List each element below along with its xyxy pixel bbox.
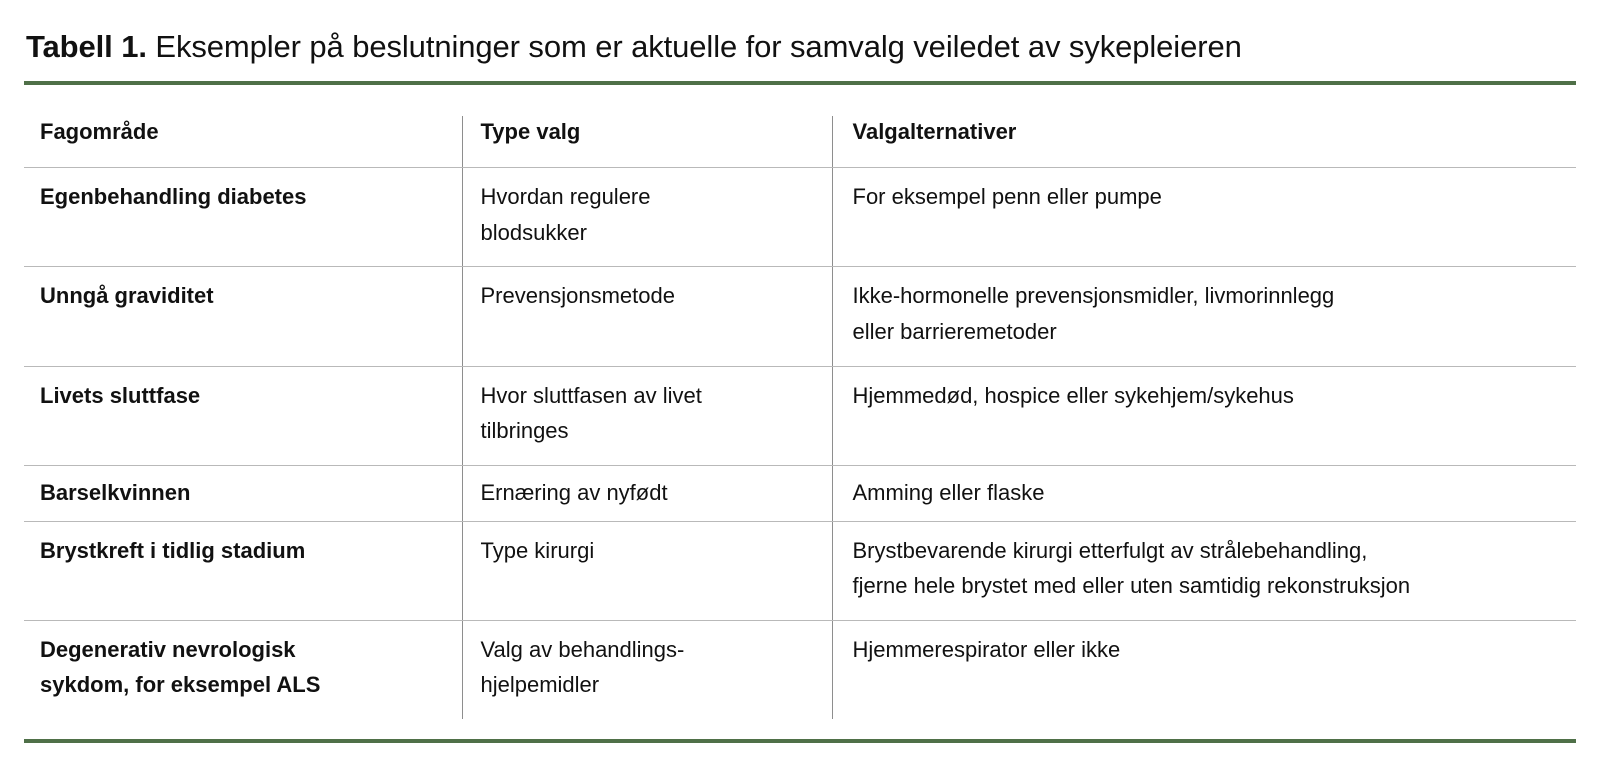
cell-line-1: Brystbevarende kirurgi etterfulgt av str…: [853, 533, 1567, 569]
cell-type-valg: Ernæring av nyfødt: [462, 465, 832, 521]
table-row: Livets sluttfase Hvor sluttfasen av live…: [24, 366, 1576, 465]
cell-line-2: hjelpemidler: [481, 667, 818, 703]
column-header-fagomrade: Fagområde: [24, 116, 462, 168]
table-caption: Tabell 1. Eksempler på beslutninger som …: [24, 0, 1576, 65]
cell-line-1: Prevensjonsmetode: [481, 278, 818, 314]
cell-line-1: For eksempel penn eller pumpe: [853, 179, 1567, 215]
cell-line-2: blodsukker: [481, 215, 818, 251]
cell-line-2: tilbringes: [481, 413, 818, 449]
cell-line-1: Amming eller flaske: [853, 475, 1567, 511]
cell-fagomrade: Unngå graviditet: [24, 267, 462, 366]
decisions-table: Fagområde Type valg Valgalternativer Ege…: [24, 116, 1576, 719]
cell-line-1: Hvordan regulere: [481, 179, 818, 215]
table-row: Brystkreft i tidlig stadium Type kirurgi…: [24, 521, 1576, 620]
column-header-valgalternativer: Valgalternativer: [832, 116, 1576, 168]
table-figure: Tabell 1. Eksempler på beslutninger som …: [0, 0, 1600, 782]
table-row: Degenerativ nevrologisk sykdom, for ekse…: [24, 620, 1576, 719]
cell-valgalternativer: Ikke-hormonelle prevensjonsmidler, livmo…: [832, 267, 1576, 366]
cell-valgalternativer: Hjemmerespirator eller ikke: [832, 620, 1576, 719]
caption-text: Eksempler på beslutninger som er aktuell…: [147, 29, 1242, 64]
cell-line-2: eller barrieremetoder: [853, 314, 1567, 350]
cell-line-1: Hjemmedød, hospice eller sykehjem/sykehu…: [853, 378, 1567, 414]
cell-line-1: Hjemmerespirator eller ikke: [853, 632, 1567, 668]
caption-label: Tabell 1.: [26, 29, 147, 64]
cell-fagomrade: Livets sluttfase: [24, 366, 462, 465]
cell-fagomrade: Barselkvinnen: [24, 465, 462, 521]
cell-line-1: Type kirurgi: [481, 533, 818, 569]
cell-fagomrade: Degenerativ nevrologisk sykdom, for ekse…: [24, 620, 462, 719]
cell-fagomrade: Egenbehandling diabetes: [24, 168, 462, 267]
cell-type-valg: Valg av behandlings- hjelpemidler: [462, 620, 832, 719]
column-header-type-valg: Type valg: [462, 116, 832, 168]
cell-fagomrade: Brystkreft i tidlig stadium: [24, 521, 462, 620]
table-row: Unngå graviditet Prevensjonsmetode Ikke-…: [24, 267, 1576, 366]
cell-line-2: sykdom, for eksempel ALS: [40, 667, 448, 703]
cell-line-1: Hvor sluttfasen av livet: [481, 378, 818, 414]
table-head: Fagområde Type valg Valgalternativer: [24, 116, 1576, 168]
cell-valgalternativer: For eksempel penn eller pumpe: [832, 168, 1576, 267]
table-row: Egenbehandling diabetes Hvordan regulere…: [24, 168, 1576, 267]
caption-rule-top: [24, 81, 1576, 85]
cell-type-valg: Prevensjonsmetode: [462, 267, 832, 366]
cell-valgalternativer: Hjemmedød, hospice eller sykehjem/sykehu…: [832, 366, 1576, 465]
cell-type-valg: Hvor sluttfasen av livet tilbringes: [462, 366, 832, 465]
cell-line-1: Degenerativ nevrologisk: [40, 632, 448, 668]
cell-line-2: fjerne hele brystet med eller uten samti…: [853, 568, 1567, 604]
table-row: Barselkvinnen Ernæring av nyfødt Amming …: [24, 465, 1576, 521]
cell-type-valg: Type kirurgi: [462, 521, 832, 620]
table-body: Egenbehandling diabetes Hvordan regulere…: [24, 168, 1576, 719]
cell-valgalternativer: Amming eller flaske: [832, 465, 1576, 521]
cell-line-1: Ikke-hormonelle prevensjonsmidler, livmo…: [853, 278, 1567, 314]
cell-valgalternativer: Brystbevarende kirurgi etterfulgt av str…: [832, 521, 1576, 620]
table-header-row: Fagområde Type valg Valgalternativer: [24, 116, 1576, 168]
cell-type-valg: Hvordan regulere blodsukker: [462, 168, 832, 267]
cell-line-1: Valg av behandlings-: [481, 632, 818, 668]
table-rule-bottom: [24, 739, 1576, 743]
cell-line-1: Ernæring av nyfødt: [481, 475, 818, 511]
